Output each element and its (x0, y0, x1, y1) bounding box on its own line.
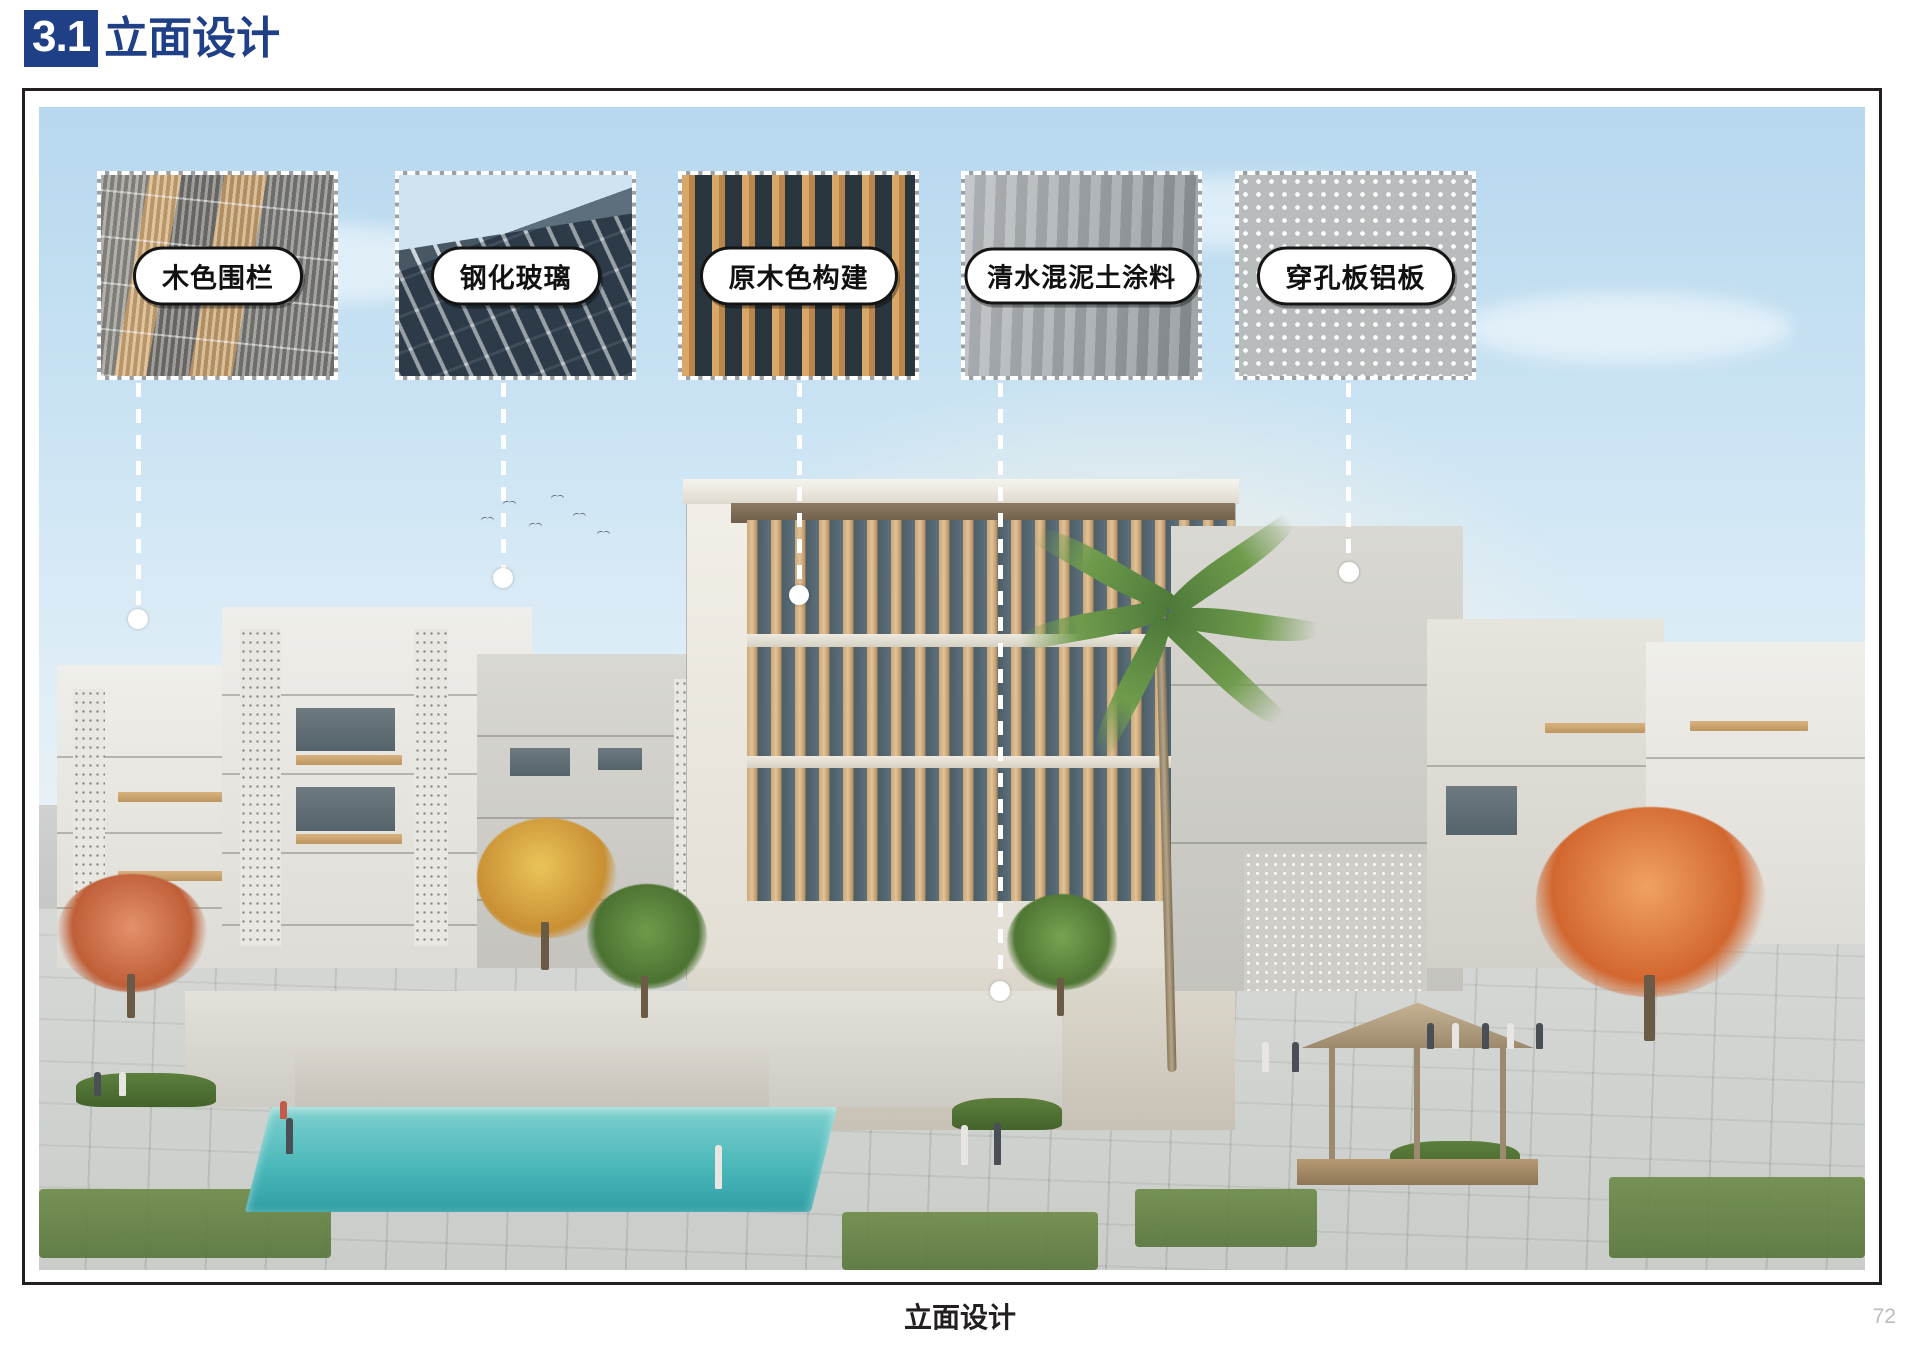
person (1452, 1023, 1459, 1049)
cloud (1463, 293, 1792, 363)
page-title: 立面设计 (104, 17, 280, 67)
connector-dot (128, 609, 148, 629)
person (994, 1123, 1001, 1165)
bird-icon (551, 495, 564, 501)
birds (477, 491, 607, 551)
person (286, 1118, 293, 1154)
person (1262, 1042, 1269, 1072)
connector-dot (990, 981, 1010, 1001)
lawn (1609, 1177, 1865, 1258)
callout-label-wood-railing[interactable]: 木色围栏 (133, 246, 303, 305)
connector-line-concrete-coating (998, 305, 1003, 991)
connector-dot (1339, 562, 1359, 582)
person (1507, 1023, 1514, 1049)
slide-header: 3.1 立面设计 (24, 10, 280, 67)
bird-icon (597, 531, 610, 537)
lawn (1135, 1189, 1318, 1247)
person (280, 1101, 287, 1119)
callout-natural-wood[interactable]: 原木色构建 (678, 171, 919, 380)
person (94, 1072, 101, 1096)
connector-dot (493, 568, 513, 588)
bird-icon (529, 523, 542, 529)
perforated-screen-wall (1244, 851, 1427, 991)
connector-dot (789, 585, 809, 605)
person (1292, 1042, 1299, 1072)
person (119, 1072, 126, 1096)
callout-tempered-glass[interactable]: 钢化玻璃 (395, 171, 636, 380)
section-number-badge: 3.1 (24, 10, 98, 67)
callout-concrete-coating[interactable]: 清水混泥土涂料 (961, 171, 1202, 380)
palm-tree-crown (1098, 545, 1288, 665)
building-parapet (683, 479, 1240, 504)
autumn-tree-large (1536, 807, 1766, 1037)
person (715, 1145, 722, 1189)
autumn-tree-left (57, 874, 207, 1014)
pavilion-roof (1301, 1003, 1534, 1049)
callout-wood-railing[interactable]: 木色围栏 (97, 171, 338, 380)
render-canvas: 木色围栏 钢化玻璃 原木色构建 清水混泥土涂料 (39, 107, 1865, 1270)
callout-label-natural-wood[interactable]: 原木色构建 (700, 246, 898, 305)
content-frame: 木色围栏 钢化玻璃 原木色构建 清水混泥土涂料 (22, 88, 1882, 1285)
person (1482, 1023, 1489, 1049)
lawn (842, 1212, 1098, 1270)
slide: 3.1 立面设计 (0, 0, 1920, 1358)
person (1536, 1023, 1543, 1049)
person (1427, 1023, 1434, 1049)
callout-label-concrete-coating[interactable]: 清水混泥土涂料 (964, 247, 1199, 304)
callout-perforated-alum[interactable]: 穿孔板铝板 (1235, 171, 1476, 380)
page-number: 72 (1873, 1305, 1896, 1329)
pavilion-deck (1297, 1159, 1538, 1185)
shrub (952, 1098, 1062, 1130)
bird-icon (573, 513, 586, 519)
person (961, 1125, 968, 1165)
callout-label-perforated-alum[interactable]: 穿孔板铝板 (1257, 246, 1455, 305)
green-tree (1007, 894, 1117, 1014)
bird-icon (481, 517, 494, 523)
water-feature (245, 1107, 837, 1212)
green-tree (587, 884, 707, 1014)
figure-caption: 立面设计 (0, 1296, 1920, 1336)
callout-label-tempered-glass[interactable]: 钢化玻璃 (431, 246, 601, 305)
